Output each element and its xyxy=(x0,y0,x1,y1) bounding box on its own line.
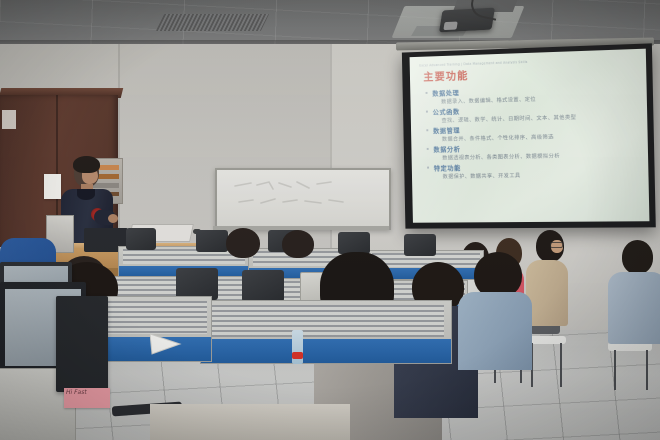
attendee-torso xyxy=(458,292,532,370)
bullet-subtext: 数据保护、数据共享、开发工具 xyxy=(443,169,641,180)
screen-surface: Excel Advanced Training | Data Managemen… xyxy=(410,49,650,223)
attendee-back-row xyxy=(226,228,262,262)
monitor-rear xyxy=(242,270,284,302)
monitor-rear xyxy=(126,228,156,250)
chair-leg xyxy=(646,350,648,390)
sticky-note: Hi Fast xyxy=(64,388,110,408)
desk-surface xyxy=(150,404,350,440)
glasses-icon xyxy=(550,242,563,248)
attendee-head xyxy=(226,228,260,258)
classroom-photo: Excel Advanced Training | Data Managemen… xyxy=(0,0,660,440)
bottle-cap xyxy=(292,352,303,359)
list-item: 数据分析 数据透视表分析、各类图表分析、数据模拟分析 xyxy=(427,141,640,162)
chair-leg xyxy=(614,350,616,390)
presentation-slide: Excel Advanced Training | Data Managemen… xyxy=(410,49,650,223)
chair-leg xyxy=(560,343,562,387)
projection-screen[interactable]: Excel Advanced Training | Data Managemen… xyxy=(402,43,656,228)
whiteboard-writing-icon xyxy=(217,170,389,228)
attendee-torso xyxy=(608,272,660,344)
partition-blue-band xyxy=(201,339,451,363)
monitor-foreground[interactable] xyxy=(56,296,108,392)
attendee-lightblue-shirt xyxy=(456,252,534,382)
projector-lens xyxy=(443,21,457,30)
attendee-blue-shirt xyxy=(608,240,660,350)
attendee-head xyxy=(622,240,653,274)
monitor-rear xyxy=(196,230,228,252)
ceiling-vent xyxy=(156,14,269,31)
monitor-rear xyxy=(338,232,370,254)
notice-paper-secondary xyxy=(2,110,16,129)
whiteboard xyxy=(215,168,391,230)
presenter-collar xyxy=(77,189,95,200)
partition-blinds xyxy=(209,305,444,337)
list-item: 特定功能 数据保护、数据共享、开发工具 xyxy=(427,160,640,180)
desk-partition-front xyxy=(200,300,452,364)
paper-flag-icon xyxy=(150,330,182,356)
slide-bullet-list: 数据处理 数据录入、数据编辑、格式设置、定位 公式函数 查找、逻辑、数学、统计、… xyxy=(426,83,641,181)
list-item: 数据管理 数据合并、条件格式、个性化排序、高级筛选 xyxy=(426,121,639,143)
presenter-hair xyxy=(73,156,100,173)
presenter-hand xyxy=(108,214,118,223)
list-item: 公式函数 查找、逻辑、数学、统计、日期时间、文本、其他类型 xyxy=(426,102,639,124)
